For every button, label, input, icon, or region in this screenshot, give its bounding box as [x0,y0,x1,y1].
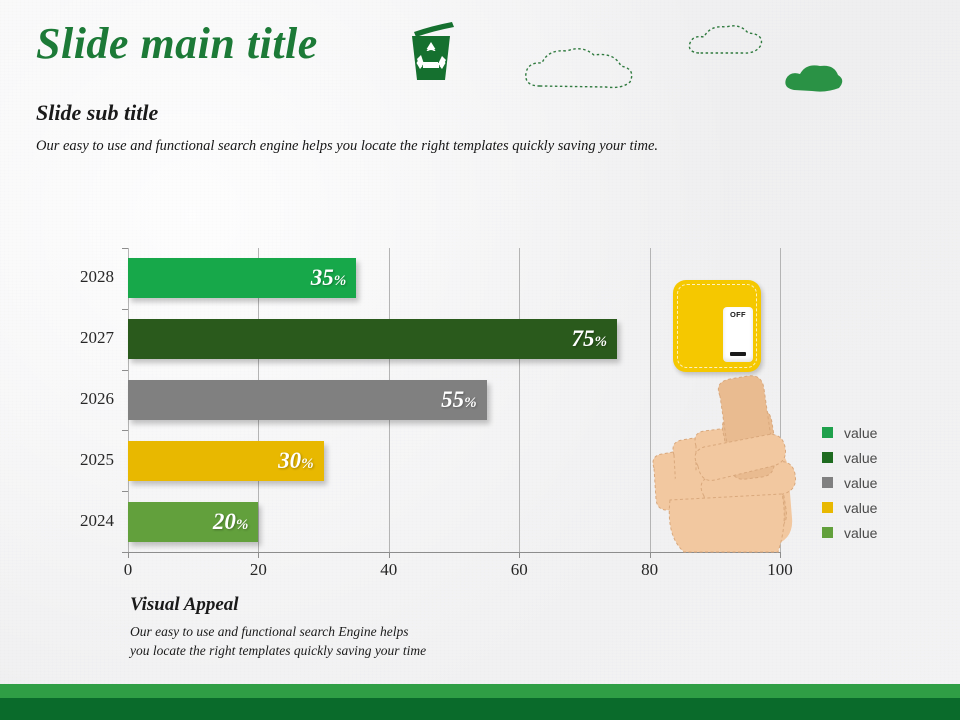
legend-swatch [822,502,833,513]
x-tick-label: 80 [641,560,658,580]
caption-title: Visual Appeal [130,594,239,616]
bar: 55% [128,380,487,420]
bar-value-label: 35% [311,265,357,291]
footer-dark-band [0,698,960,720]
y-tick-label: 2027 [80,328,114,348]
page-subtitle: Slide sub title [36,100,158,126]
recycle-bin-icon [404,18,458,82]
legend-item[interactable]: value [822,495,942,520]
y-tick [122,248,128,249]
bar-value-label: 30% [278,448,324,474]
x-tick-label: 40 [380,560,397,580]
switch-state-label: OFF [723,310,753,319]
legend-swatch [822,477,833,488]
x-tick-label: 20 [250,560,267,580]
x-tick [128,552,129,558]
y-tick-label: 2024 [80,511,114,531]
legend-swatch [822,427,833,438]
hand-pressing-light-switch: OFF [648,270,808,560]
legend-label: value [844,425,877,441]
y-tick [122,430,128,431]
legend-item[interactable]: value [822,445,942,470]
page-description: Our easy to use and functional search en… [36,138,658,155]
footer-light-band [0,684,960,698]
y-tick-label: 2028 [80,267,114,287]
y-tick [122,370,128,371]
x-tick [519,552,520,558]
y-tick-label: 2026 [80,389,114,409]
x-tick-label: 100 [767,560,793,580]
chart-legend: valuevaluevaluevaluevalue [822,420,942,545]
cloud-outline-icon [686,22,768,56]
legend-item[interactable]: value [822,520,942,545]
chart-y-tick-labels: 20242025202620272028 [0,248,114,552]
slide-canvas: Slide main title Slide sub title Our eas… [0,0,960,720]
caption-body: Our easy to use and functional search En… [130,622,426,660]
x-tick-label: 60 [511,560,528,580]
legend-swatch [822,452,833,463]
cloud-outline-icon [522,42,640,90]
y-tick-label: 2025 [80,450,114,470]
y-tick [122,552,128,553]
x-tick [389,552,390,558]
legend-swatch [822,527,833,538]
legend-label: value [844,500,877,516]
y-tick [122,491,128,492]
bar: 35% [128,258,356,298]
gridline [519,248,520,552]
bar-value-label: 55% [441,387,487,413]
bar-value-label: 20% [213,509,259,535]
legend-item[interactable]: value [822,420,942,445]
legend-label: value [844,450,877,466]
bar: 30% [128,441,324,481]
bar: 75% [128,319,617,359]
legend-item[interactable]: value [822,470,942,495]
page-title: Slide main title [36,18,318,69]
x-tick-label: 0 [124,560,133,580]
bar: 20% [128,502,258,542]
legend-label: value [844,475,877,491]
bar-value-label: 75% [572,326,618,352]
legend-label: value [844,525,877,541]
x-tick [258,552,259,558]
cloud-solid-icon [782,62,844,92]
hand-icon [648,350,808,555]
y-tick [122,309,128,310]
